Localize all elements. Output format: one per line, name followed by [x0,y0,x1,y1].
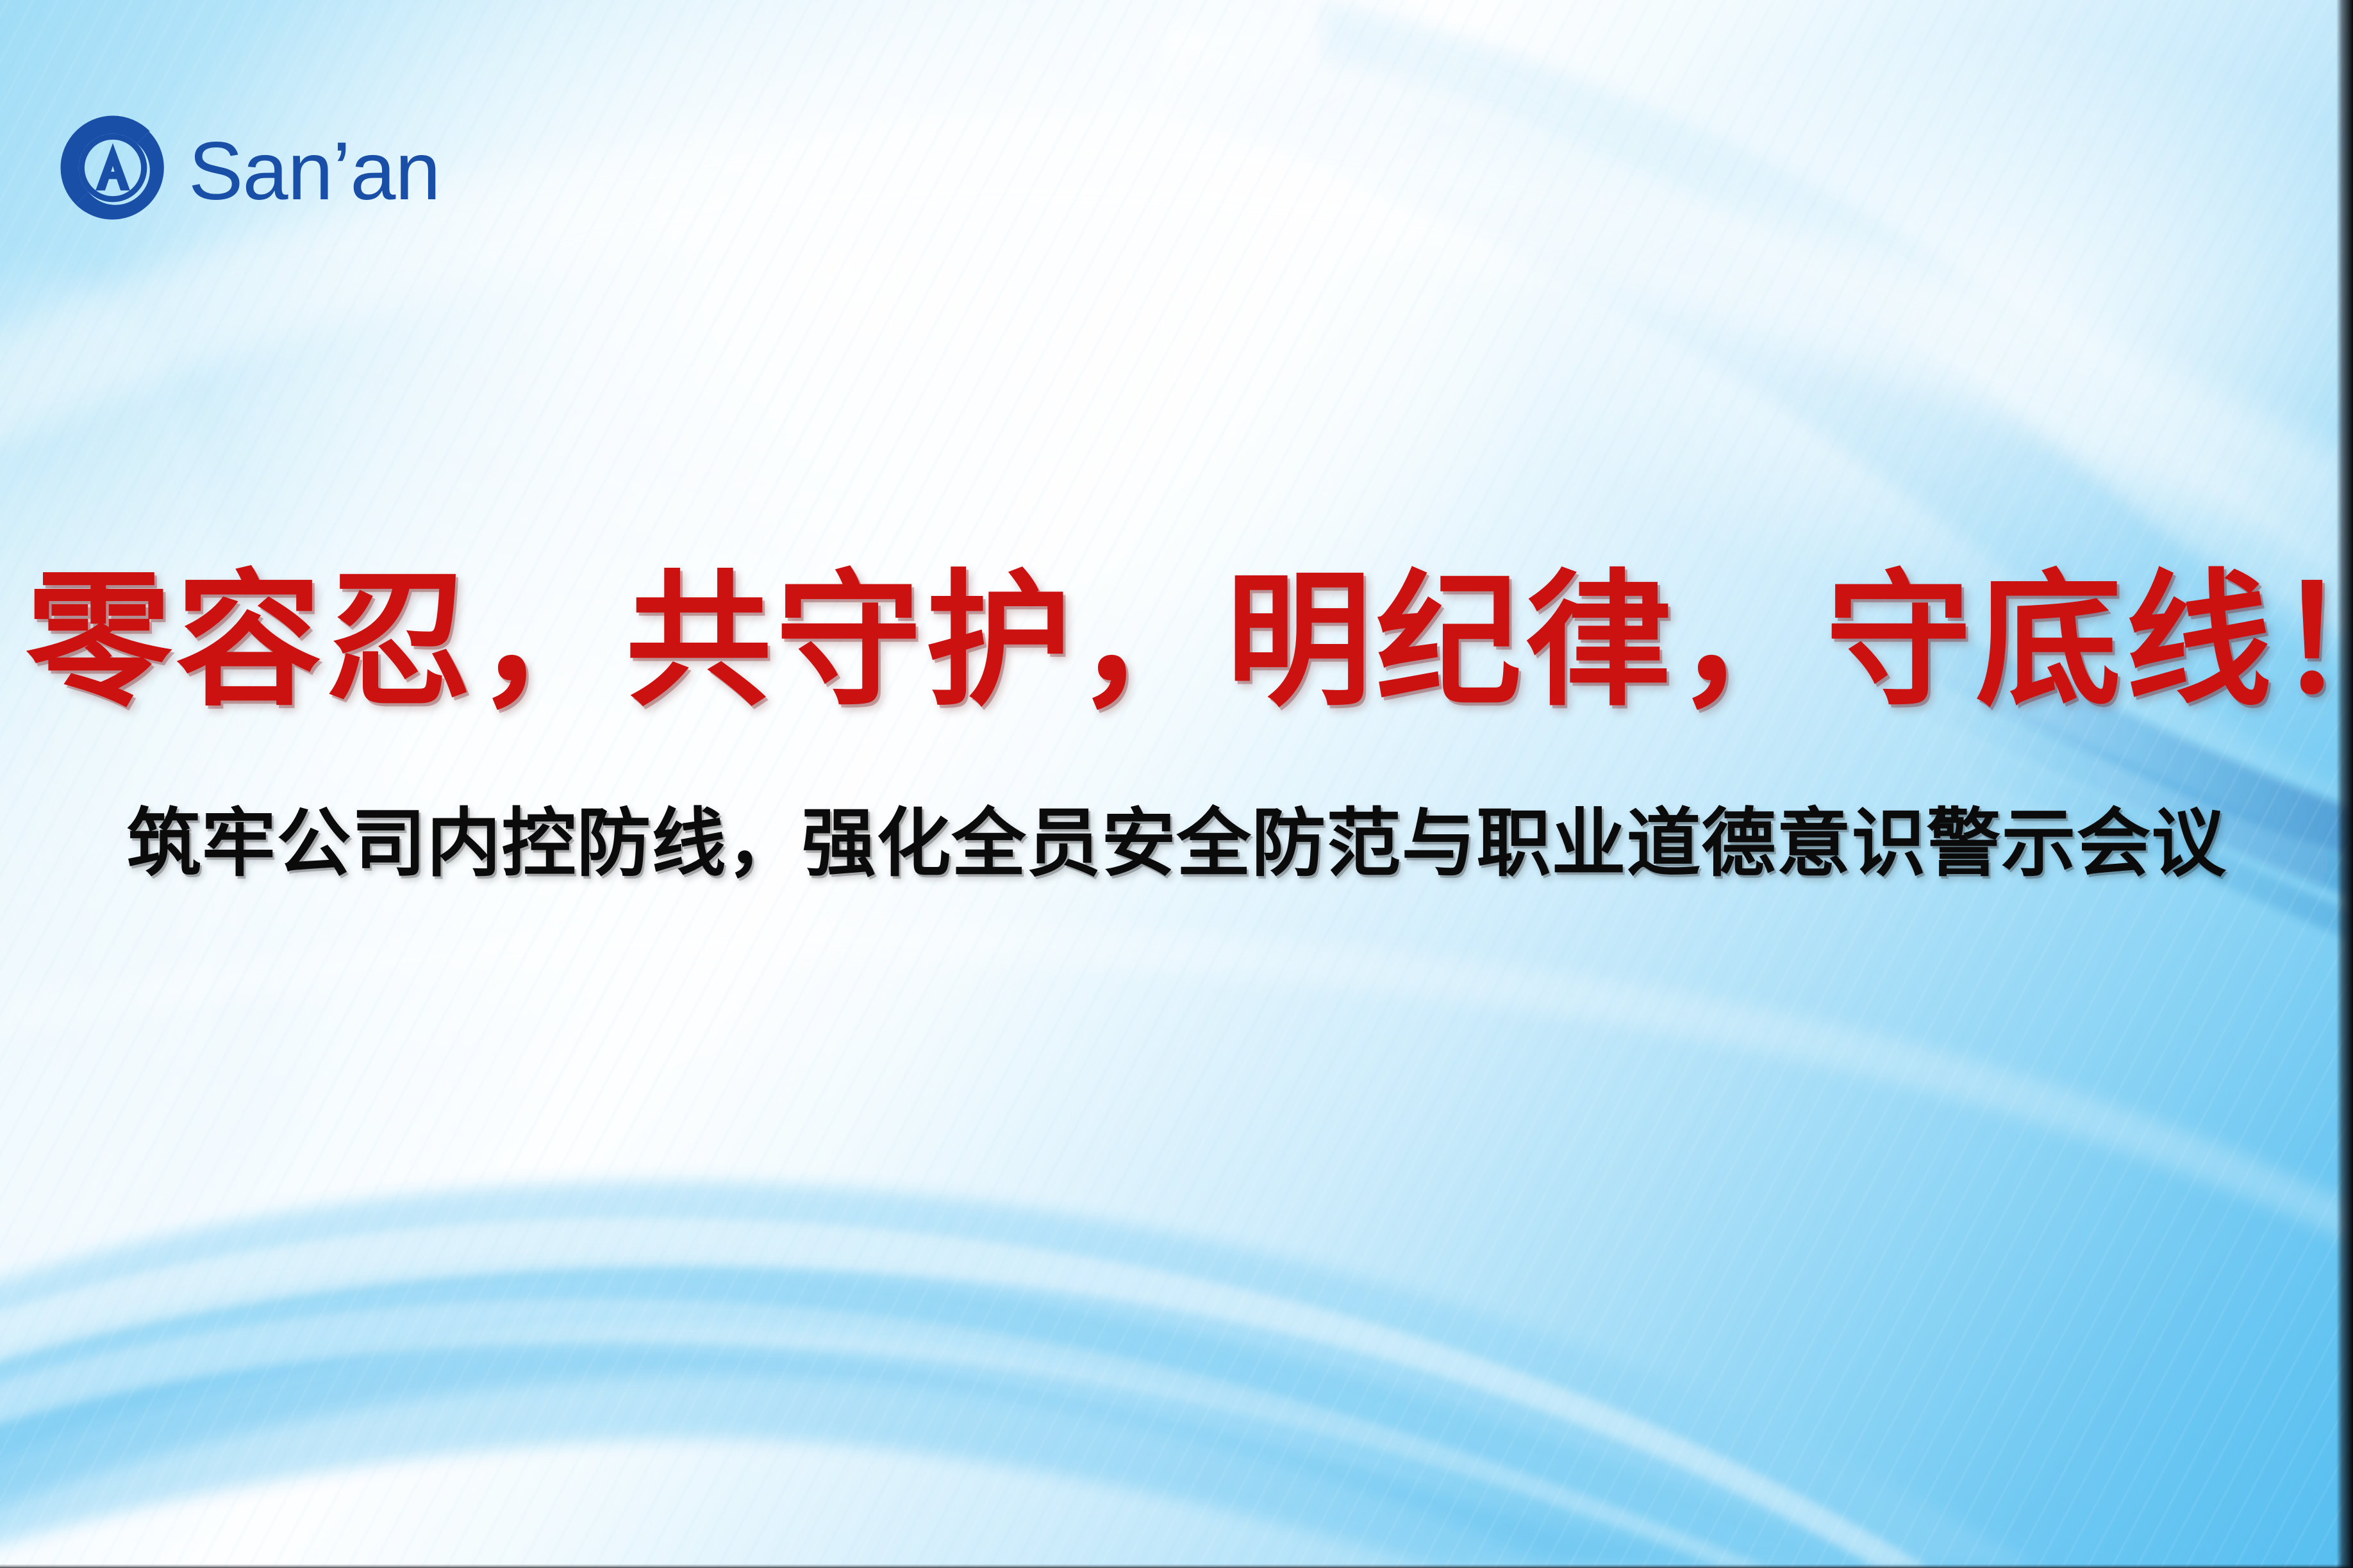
slide-subtitle: 筑牢公司内控防线，强化全员安全防范与职业道德意识警示会议 [0,801,2353,886]
slide-text-block: 零容忍，共守护，明纪律，守底线！ 筑牢公司内控防线，强化全员安全防范与职业道德意… [0,564,2353,886]
slide-headline: 零容忍，共守护，明纪律，守底线！ [0,564,2353,719]
slide-bottom-edge-border [0,1564,2353,1568]
brand-logo: San’an [59,114,440,222]
brand-wordmark: San’an [188,131,440,213]
sanan-ring-a-logo-icon [59,114,167,222]
presentation-slide: San’an 零容忍，共守护，明纪律，守底线！ 筑牢公司内控防线，强化全员安全防… [0,0,2353,1568]
